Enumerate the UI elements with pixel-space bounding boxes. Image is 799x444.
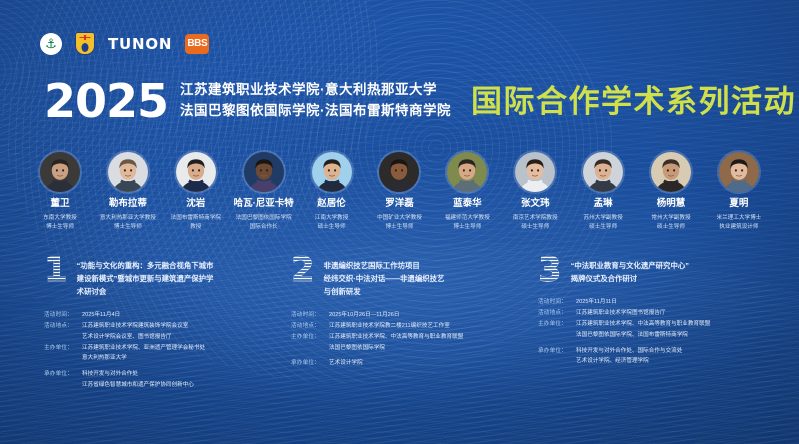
detail-row: 活动地点：江苏建筑职业技术学院建筑装饰学院会议室艺术设计学院会议室、图书馆报告厅	[44, 321, 277, 343]
detail-label: 活动地点：	[44, 321, 82, 343]
year-label: 2025	[44, 78, 168, 124]
detail-values: 科技开发与对外合作处江苏省绿色智慧城市和遗产保护协同创新中心	[82, 369, 194, 391]
detail-values: 江苏建筑职业技术学院图书馆报告厅	[576, 308, 666, 319]
event-title-line: “功能与文化的重构：多元融合视角下城市	[77, 260, 214, 273]
detail-value: 江苏建筑职业技术学院、中法高等教育与职业教育联盟	[576, 319, 710, 330]
event-number: 1	[44, 256, 68, 285]
detail-row: 活动时间：2025年10月26日—11月26日	[291, 310, 524, 321]
event-title-line: “中法职业教育与文化遗产研究中心”	[571, 260, 689, 273]
expert-name: 孟琳	[571, 199, 635, 209]
expert-role: 硕士生导师	[571, 223, 635, 232]
detail-value: 艺术设计学院、经济管理学院	[576, 356, 682, 367]
expert-card: 蓝泰华福建师范大学教授博士生导师	[435, 152, 499, 232]
expert-name: 张文玮	[503, 199, 567, 209]
detail-row: 活动地点：江苏建筑职业技术学院图书馆报告厅	[538, 308, 771, 319]
university-names: 江苏建筑职业技术学院·意大利热那亚大学 法国巴黎图依国际学院·法国布雷斯特商学院	[180, 82, 451, 120]
detail-row: 承办单位：艺术设计学院	[291, 358, 524, 369]
jsjz-logo: ⚓	[40, 33, 62, 55]
detail-label: 承办单位：	[291, 358, 329, 369]
detail-value: 江苏省绿色智慧城市和遗产保护协同创新中心	[82, 380, 194, 391]
detail-label: 活动地点：	[291, 321, 329, 332]
detail-value: 江苏建筑职业技术学院建筑装饰学院会议室	[82, 321, 188, 332]
detail-value: 法国巴黎图依国际学院、法国布雷斯特商学院	[576, 330, 710, 341]
detail-values: 江苏建筑职业技术学院建筑装饰学院会议室艺术设计学院会议室、图书馆报告厅	[82, 321, 188, 343]
detail-label: 活动时间：	[538, 297, 576, 308]
detail-label: 活动时间：	[291, 310, 329, 321]
page-title: 国际合作学术系列活动	[471, 86, 796, 117]
detail-value: 江苏建筑职业技术学院图书馆报告厅	[576, 308, 666, 319]
expert-card: 张文玮南京艺术学院教授硕士生导师	[503, 152, 567, 232]
detail-label: 活动时间：	[44, 310, 82, 321]
expert-role: 执业建筑设计师	[707, 223, 771, 232]
event-title-line: 揭牌仪式及合作研讨	[571, 273, 689, 286]
avatar	[40, 152, 80, 192]
detail-value: 江苏建筑职业技术学院、亚洲遗产管理学会秘书处	[82, 343, 205, 354]
avatar	[244, 152, 284, 192]
expert-name: 董卫	[28, 199, 92, 209]
expert-affiliation: 江南大学教授	[300, 214, 364, 223]
avatar	[447, 152, 487, 192]
detail-row: 主办单位：江苏建筑职业技术学院、亚洲遗产管理学会秘书处意大利热那亚大学	[44, 343, 277, 365]
expert-name: 哈瓦·尼亚卡特	[232, 199, 296, 209]
event-number: 2	[291, 256, 315, 285]
genoa-logo	[75, 32, 95, 55]
event-title-line: 建设新模式”暨城市更新与建筑遗产保护学	[77, 273, 214, 286]
expert-affiliation: 意大利热那亚大学教授	[96, 214, 160, 223]
expert-card: 杨明慧常州大学副教授硕士生导师	[639, 152, 703, 232]
event-section: 2非遗编织技艺国际工作坊项目经纬交织·中法对话——非遗编织技艺与创新研发活动时间…	[291, 258, 524, 391]
tunon-logo-mark: TUNON	[108, 35, 172, 53]
event-title-line: 经纬交织·中法对话——非遗编织技艺	[324, 273, 445, 286]
avatar	[312, 152, 352, 192]
detail-values: 江苏建筑职业技术学院、亚洲遗产管理学会秘书处意大利热那亚大学	[82, 343, 205, 365]
detail-row: 活动地点：江苏建筑职业技术学院教二楼211编织技艺工作室	[291, 321, 524, 332]
detail-row: 承办单位：科技开发与对外合作处、国际合作与交流处艺术设计学院、经济管理学院	[538, 346, 771, 368]
university-line-1: 江苏建筑职业技术学院·意大利热那亚大学	[180, 82, 451, 99]
expert-name: 勒布拉蒂	[96, 199, 160, 209]
event-details: 活动时间：2025年10月26日—11月26日活动地点：江苏建筑职业技术学院教二…	[291, 310, 524, 370]
detail-value: 意大利热那亚大学	[82, 353, 205, 364]
detail-value: 法国巴黎图依国际学院	[329, 343, 463, 354]
bbs-logo-mark: BBS	[185, 34, 209, 54]
event-title: 非遗编织技艺国际工作坊项目经纬交织·中法对话——非遗编织技艺与创新研发	[324, 258, 445, 299]
expert-card: 哈瓦·尼亚卡特法国巴黎图依国际学院国际合作长	[232, 152, 296, 232]
detail-row: 主办单位：江苏建筑职业技术学院、中法高等教育与职业教育联盟法国巴黎图依国际学院	[291, 332, 524, 354]
expert-name: 赵居伦	[300, 199, 364, 209]
detail-label: 承办单位：	[44, 369, 82, 391]
jsjz-logo-mark: ⚓	[40, 33, 62, 55]
detail-values: 江苏建筑职业技术学院教二楼211编织技艺工作室	[329, 321, 450, 332]
expert-name: 沈岩	[164, 199, 228, 209]
expert-name: 罗洋磊	[367, 199, 431, 209]
event-header: 2非遗编织技艺国际工作坊项目经纬交织·中法对话——非遗编织技艺与创新研发	[291, 258, 524, 299]
expert-name: 杨明慧	[639, 199, 703, 209]
detail-value: 2025年10月26日—11月26日	[329, 310, 399, 321]
avatar	[719, 152, 759, 192]
event-details: 活动时间：2025年11月4日活动地点：江苏建筑职业技术学院建筑装饰学院会议室艺…	[44, 310, 277, 391]
event-header: 1“功能与文化的重构：多元融合视角下城市建设新模式”暨城市更新与建筑遗产保护学术…	[44, 258, 277, 299]
event-number: 3	[538, 256, 562, 285]
avatar	[176, 152, 216, 192]
expert-role: 博士生导师	[367, 223, 431, 232]
tunon-logo: TUNON	[108, 35, 172, 53]
detail-value: 科技开发与对外合作处、国际合作与交流处	[576, 346, 682, 357]
detail-row: 活动时间：2025年11月11日	[538, 297, 771, 308]
detail-label: 承办单位：	[538, 346, 576, 368]
expert-name: 蓝泰华	[435, 199, 499, 209]
poster-canvas: ⚓TUNONBBS 2025 江苏建筑职业技术学院·意大利热那亚大学 法国巴黎图…	[0, 0, 799, 444]
avatar	[583, 152, 623, 192]
detail-label: 主办单位：	[44, 343, 82, 365]
expert-affiliation: 福建师范大学教授	[435, 214, 499, 223]
event-title: “功能与文化的重构：多元融合视角下城市建设新模式”暨城市更新与建筑遗产保护学术研…	[77, 258, 214, 299]
expert-affiliation: 东南大学教授	[28, 214, 92, 223]
expert-card: 董卫东南大学教授博士生导师	[28, 152, 92, 232]
event-title-line: 与创新研发	[324, 286, 445, 299]
detail-values: 江苏建筑职业技术学院、中法高等教育与职业教育联盟法国巴黎图依国际学院、法国布雷斯…	[576, 319, 710, 341]
detail-value: 艺术设计学院会议室、图书馆报告厅	[82, 332, 188, 343]
detail-label: 活动地点：	[538, 308, 576, 319]
expert-role: 教授	[164, 223, 228, 232]
expert-role: 博士生导师	[96, 223, 160, 232]
detail-value: 江苏建筑职业技术学院教二楼211编织技艺工作室	[329, 321, 450, 332]
detail-values: 2025年11月11日	[576, 297, 617, 308]
avatar	[515, 152, 555, 192]
expert-role: 国际合作长	[232, 223, 296, 232]
expert-affiliation: 法国巴黎图依国际学院	[232, 214, 296, 223]
detail-values: 科技开发与对外合作处、国际合作与交流处艺术设计学院、经济管理学院	[576, 346, 682, 368]
event-header: 3“中法职业教育与文化遗产研究中心”揭牌仪式及合作研讨	[538, 258, 771, 286]
detail-values: 江苏建筑职业技术学院、中法高等教育与职业教育联盟法国巴黎图依国际学院	[329, 332, 463, 354]
detail-value: 2025年11月11日	[576, 297, 617, 308]
detail-value: 科技开发与对外合作处	[82, 369, 194, 380]
detail-label: 主办单位：	[291, 332, 329, 354]
event-section: 1“功能与文化的重构：多元融合视角下城市建设新模式”暨城市更新与建筑遗产保护学术…	[44, 258, 277, 391]
avatar	[651, 152, 691, 192]
detail-row: 活动时间：2025年11月4日	[44, 310, 277, 321]
bbs-logo: BBS	[185, 34, 209, 54]
expert-card: 孟琳苏州大学副教授硕士生导师	[571, 152, 635, 232]
detail-value: 2025年11月4日	[82, 310, 120, 321]
avatar	[379, 152, 419, 192]
detail-value: 艺术设计学院	[329, 358, 363, 369]
expert-affiliation: 中国矿业大学教授	[367, 214, 431, 223]
expert-card: 罗洋磊中国矿业大学教授博士生导师	[367, 152, 431, 232]
detail-values: 艺术设计学院	[329, 358, 363, 369]
detail-values: 2025年10月26日—11月26日	[329, 310, 399, 321]
event-title-line: 非遗编织技艺国际工作坊项目	[324, 260, 445, 273]
event-title: “中法职业教育与文化遗产研究中心”揭牌仪式及合作研讨	[571, 258, 689, 286]
detail-label: 主办单位：	[538, 319, 576, 341]
detail-row: 主办单位：江苏建筑职业技术学院、中法高等教育与职业教育联盟法国巴黎图依国际学院、…	[538, 319, 771, 341]
expert-affiliation: 法国布雷斯特商学院	[164, 214, 228, 223]
expert-affiliation: 南京艺术学院教授	[503, 214, 567, 223]
event-title-line: 术研讨会	[77, 286, 214, 299]
expert-affiliation: 米兰理工大学博士	[707, 214, 771, 223]
expert-affiliation: 苏州大学副教授	[571, 214, 635, 223]
expert-row: 董卫东南大学教授博士生导师勒布拉蒂意大利热那亚大学教授博士生导师沈岩法国布雷斯特…	[28, 152, 771, 232]
expert-affiliation: 常州大学副教授	[639, 214, 703, 223]
event-details: 活动时间：2025年11月11日活动地点：江苏建筑职业技术学院图书馆报告厅主办单…	[538, 297, 771, 367]
expert-role: 硕士生导师	[503, 223, 567, 232]
event-section: 3“中法职业教育与文化遗产研究中心”揭牌仪式及合作研讨活动时间：2025年11月…	[538, 258, 771, 391]
partner-logo-bar: ⚓TUNONBBS	[40, 32, 209, 55]
expert-card: 赵居伦江南大学教授硕士生导师	[300, 152, 364, 232]
event-sections: 1“功能与文化的重构：多元融合视角下城市建设新模式”暨城市更新与建筑遗产保护学术…	[44, 258, 771, 391]
expert-role: 博士生导师	[28, 223, 92, 232]
detail-row: 承办单位：科技开发与对外合作处江苏省绿色智慧城市和遗产保护协同创新中心	[44, 369, 277, 391]
expert-card: 夏明米兰理工大学博士执业建筑设计师	[707, 152, 771, 232]
headline-block: 2025 江苏建筑职业技术学院·意大利热那亚大学 法国巴黎图依国际学院·法国布雷…	[44, 78, 763, 124]
genoa-logo-mark	[75, 32, 95, 55]
university-line-2: 法国巴黎图依国际学院·法国布雷斯特商学院	[180, 103, 451, 120]
expert-card: 勒布拉蒂意大利热那亚大学教授博士生导师	[96, 152, 160, 232]
expert-role: 博士生导师	[435, 223, 499, 232]
expert-role: 硕士生导师	[300, 223, 364, 232]
expert-card: 沈岩法国布雷斯特商学院教授	[164, 152, 228, 232]
avatar	[108, 152, 148, 192]
detail-values: 2025年11月4日	[82, 310, 120, 321]
expert-name: 夏明	[707, 199, 771, 209]
detail-value: 江苏建筑职业技术学院、中法高等教育与职业教育联盟	[329, 332, 463, 343]
expert-role: 硕士生导师	[639, 223, 703, 232]
